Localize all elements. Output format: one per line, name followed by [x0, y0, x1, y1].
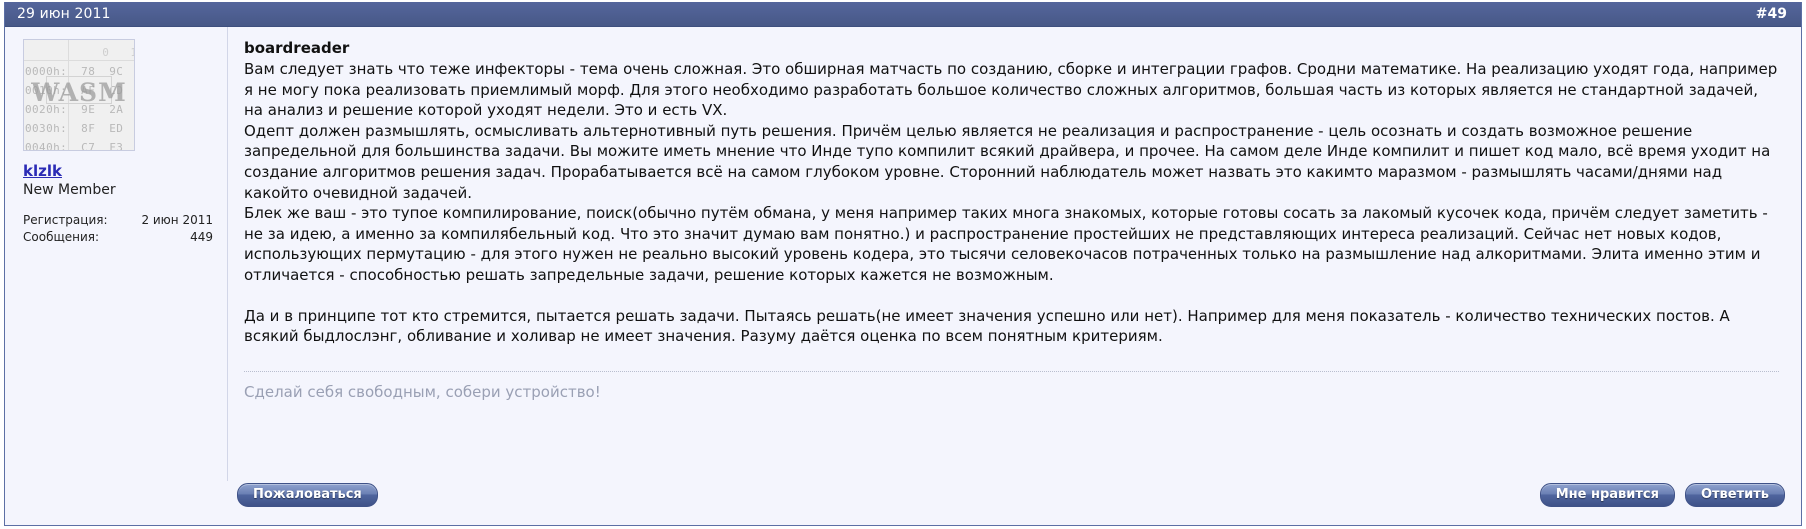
message-text: Вам следует знать что теже инфекторы - т…: [244, 59, 1779, 347]
message-paragraph: Да и в принципе тот кто стремится, пытае…: [244, 306, 1779, 347]
message-column: boardreader Вам следует знать что теже и…: [227, 27, 1801, 481]
report-button[interactable]: Пожаловаться: [237, 483, 378, 507]
stat-label-registration: Регистрация:: [23, 212, 108, 229]
footer-right-actions: Мне нравится Ответить: [1540, 483, 1785, 507]
reply-button[interactable]: Ответить: [1685, 483, 1785, 507]
forum-post-page: 29 июн 2011 #49 0 1 0000h: 78 9C 0010h: …: [0, 0, 1806, 529]
post-footer: Пожаловаться Мне нравится Ответить: [5, 481, 1801, 525]
stat-label-messages: Сообщения:: [23, 229, 99, 246]
message-paragraph: Блек же ваш - это тупое компилирование, …: [244, 203, 1779, 285]
author-username-link[interactable]: klzlk: [23, 162, 62, 180]
avatar-header-rule: [24, 60, 134, 61]
footer-left-actions: Пожаловаться: [237, 483, 378, 507]
stat-row-registration: Регистрация: 2 июн 2011: [23, 212, 213, 229]
like-button[interactable]: Мне нравится: [1540, 483, 1675, 507]
author-title: New Member: [23, 182, 227, 198]
user-info-column: 0 1 0000h: 78 9C 0010h: AF CD 0020h: 9E …: [5, 27, 227, 481]
message-title: boardreader: [244, 39, 1779, 57]
avatar-hex-line-4: 0030h: 8F ED: [25, 122, 123, 135]
avatar-watermark: WASM: [24, 78, 134, 107]
post-body: 0 1 0000h: 78 9C 0010h: AF CD 0020h: 9E …: [5, 27, 1801, 481]
message-paragraph: Одепт должен размышлять, осмысливать аль…: [244, 121, 1779, 203]
avatar-hex-line-5: 0040h: C7 F3: [25, 141, 123, 151]
stat-value-registration: 2 июн 2011: [141, 212, 213, 229]
stat-value-messages: 449: [190, 229, 213, 246]
avatar-hex-line-0: 0 1: [25, 46, 135, 59]
post-container: 29 июн 2011 #49 0 1 0000h: 78 9C 0010h: …: [4, 2, 1802, 526]
message-paragraph: Вам следует знать что теже инфекторы - т…: [244, 59, 1779, 121]
post-header: 29 июн 2011 #49: [5, 2, 1801, 27]
post-date: 29 июн 2011: [17, 6, 110, 22]
post-permalink-number[interactable]: #49: [1756, 6, 1787, 22]
stat-row-messages: Сообщения: 449: [23, 229, 213, 246]
avatar[interactable]: 0 1 0000h: 78 9C 0010h: AF CD 0020h: 9E …: [23, 39, 135, 151]
author-stats: Регистрация: 2 июн 2011 Сообщения: 449: [23, 212, 213, 246]
author-signature: Сделай себя свободным, собери устройство…: [244, 371, 1779, 402]
